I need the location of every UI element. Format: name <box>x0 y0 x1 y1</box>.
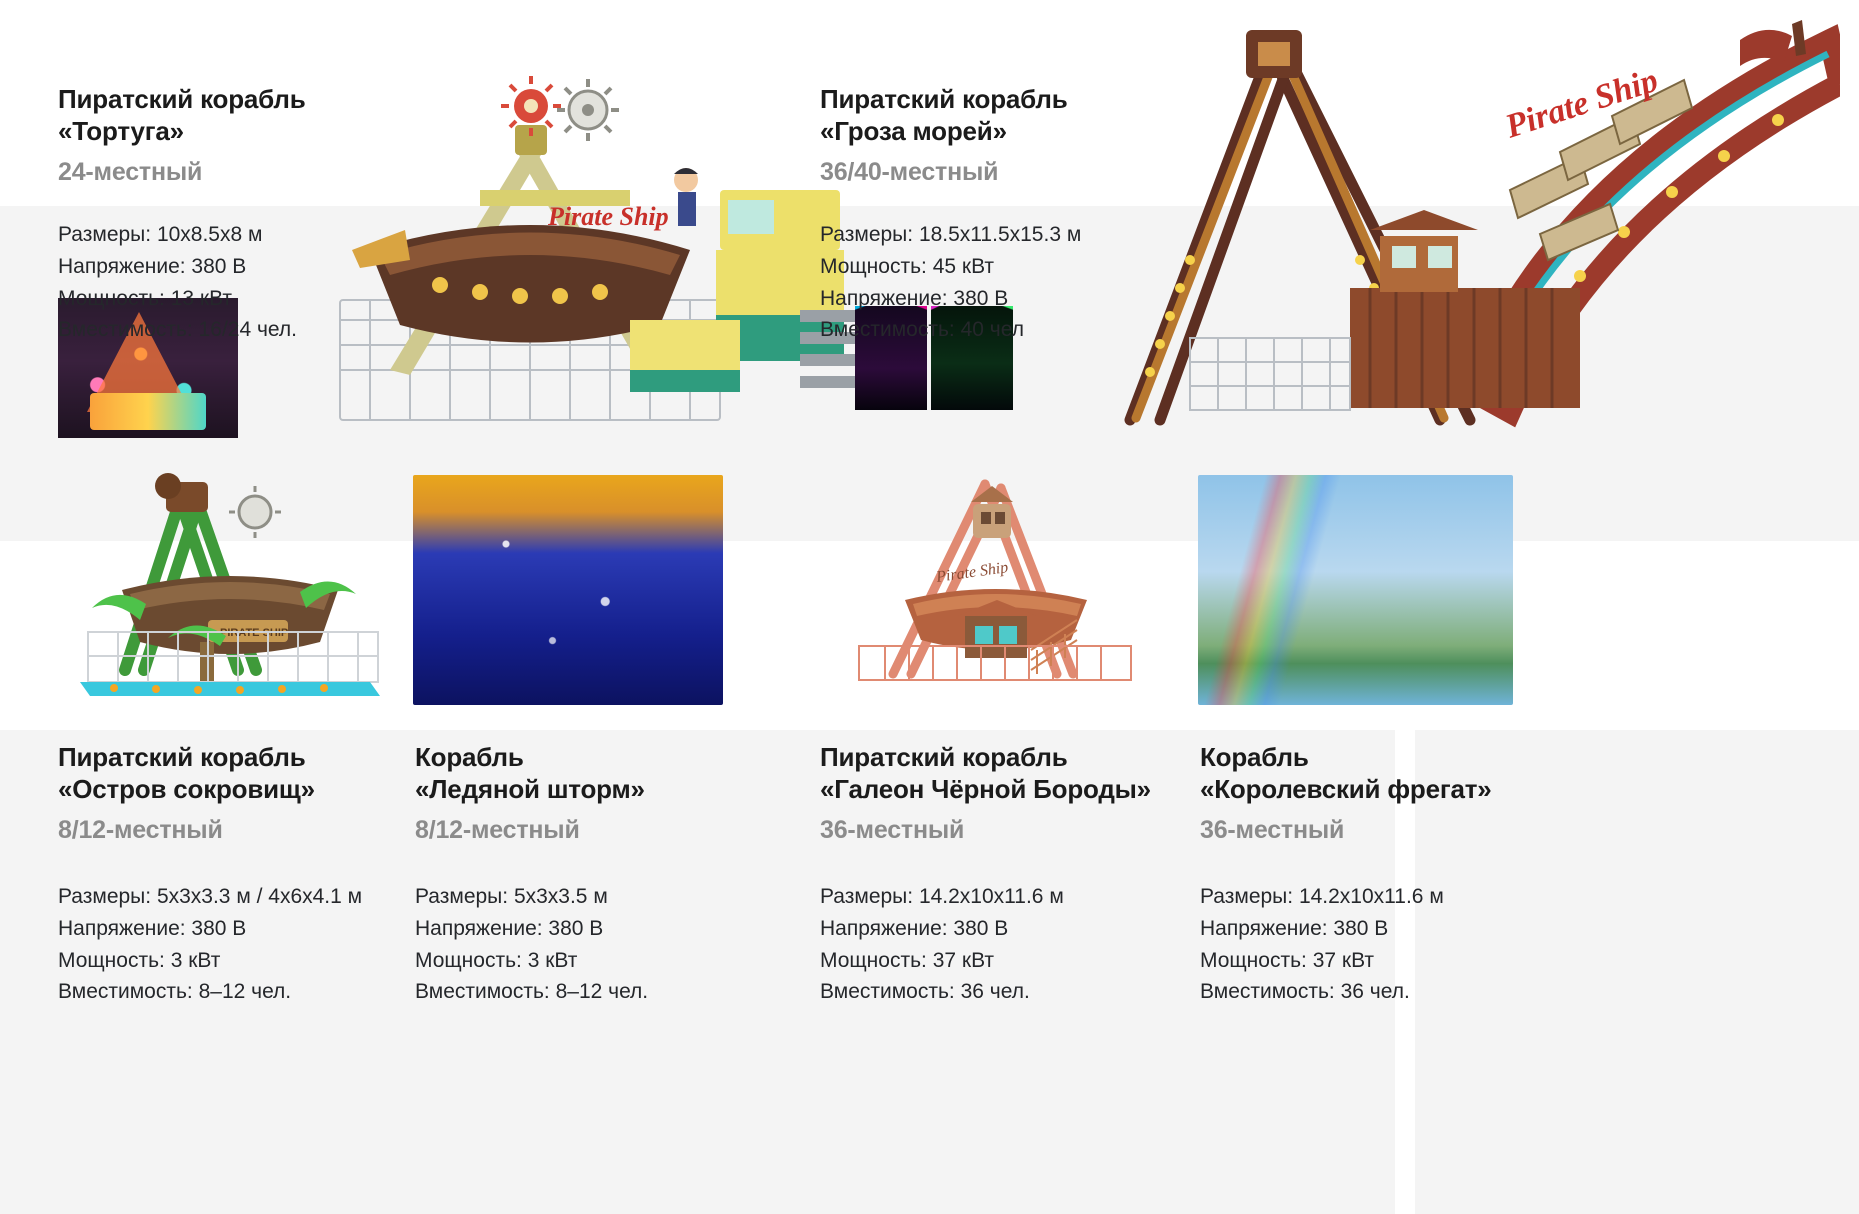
card-title: Корабль «Королевский фрегат» <box>1200 742 1580 805</box>
spec-voltage: Напряжение: 380 В <box>58 913 438 945</box>
spec-power: Мощность: 3 кВт <box>58 945 438 977</box>
card-title-line2: «Гроза морей» <box>820 116 1007 146</box>
card-title-line1: Пиратский корабль <box>58 742 305 772</box>
card-title: Корабль «Ледяной шторм» <box>415 742 795 805</box>
card-title-line2: «Королевский фрегат» <box>1200 774 1492 804</box>
pirate-ship-galeon-chernoy-borody-render: Pirate Ship <box>845 470 1145 705</box>
card-specs: Размеры: 5x3x3.5 м Напряжение: 380 В Мощ… <box>415 881 795 1009</box>
spec-capacity: Вместимость: 36 чел. <box>1200 976 1580 1008</box>
catalog-page: Pirate Ship <box>0 0 1859 1214</box>
spec-power: Мощность: 3 кВт <box>415 945 795 977</box>
spec-voltage: Напряжение: 380 В <box>1200 913 1580 945</box>
spec-power: Мощность: 13 кВт <box>58 283 458 315</box>
spec-dimensions: Размеры: 14.2x10x11.6 м <box>820 881 1200 913</box>
card-title-line1: Пиратский корабль <box>820 84 1067 114</box>
card-subtitle: 36/40-местный <box>820 157 1240 188</box>
card-subtitle: 8/12-местный <box>58 815 438 846</box>
card-subtitle: 36-местный <box>1200 815 1580 846</box>
ship-ledyanoy-shtorm-photo <box>413 475 723 705</box>
spec-capacity: Вместимость: 8–12 чел. <box>415 976 795 1008</box>
card-specs: Размеры: 10x8.5x8 м Напряжение: 380 В Мо… <box>58 219 458 347</box>
spec-voltage: Напряжение: 380 В <box>58 251 458 283</box>
spec-dimensions: Размеры: 18.5x11.5x15.3 м <box>820 219 1240 251</box>
spec-capacity: Вместимость: 8–12 чел. <box>58 976 438 1008</box>
spec-power: Мощность: 37 кВт <box>820 945 1200 977</box>
card-title: Пиратский корабль «Тортуга» <box>58 84 458 147</box>
svg-text:Pirate Ship: Pirate Ship <box>547 202 669 231</box>
spec-voltage: Напряжение: 380 В <box>820 913 1200 945</box>
card-title: Пиратский корабль «Остров сокровищ» <box>58 742 438 805</box>
card-subtitle: 36-местный <box>820 815 1200 846</box>
ship-korolevskiy-fregat-photo <box>1198 475 1513 705</box>
card-korolevskiy-fregat: Корабль «Королевский фрегат» 36-местный … <box>1200 742 1580 1008</box>
card-title-line2: «Остров сокровищ» <box>58 774 315 804</box>
spec-power: Мощность: 45 кВт <box>820 251 1240 283</box>
spec-voltage: Напряжение: 380 В <box>820 283 1240 315</box>
spec-dimensions: Размеры: 5x3x3.3 м / 4x6x4.1 м <box>58 881 438 913</box>
spec-power: Мощность: 37 кВт <box>1200 945 1580 977</box>
spec-capacity: Вместимость: 40 чел <box>820 314 1240 346</box>
spec-dimensions: Размеры: 14.2x10x11.6 м <box>1200 881 1580 913</box>
spec-capacity: Вместимость: 36 чел. <box>820 976 1200 1008</box>
card-title: Пиратский корабль «Гроза морей» <box>820 84 1240 147</box>
card-title-line1: Пиратский корабль <box>58 84 305 114</box>
card-title: Пиратский корабль «Галеон Чёрной Бороды» <box>820 742 1200 805</box>
card-specs: Размеры: 14.2x10x11.6 м Напряжение: 380 … <box>1200 881 1580 1009</box>
spec-dimensions: Размеры: 5x3x3.5 м <box>415 881 795 913</box>
card-ostrov-sokrovisch: Пиратский корабль «Остров сокровищ» 8/12… <box>58 742 438 1008</box>
card-title-line1: Корабль <box>1200 742 1309 772</box>
card-title-line2: «Тортуга» <box>58 116 184 146</box>
card-specs: Размеры: 18.5x11.5x15.3 м Мощность: 45 к… <box>820 219 1240 347</box>
card-groza-morey: Пиратский корабль «Гроза морей» 36/40-ме… <box>820 84 1240 346</box>
card-subtitle: 8/12-местный <box>415 815 795 846</box>
card-title-line1: Пиратский корабль <box>820 742 1067 772</box>
card-title-line2: «Галеон Чёрной Бороды» <box>820 774 1151 804</box>
card-title-line1: Корабль <box>415 742 524 772</box>
card-specs: Размеры: 5x3x3.3 м / 4x6x4.1 м Напряжени… <box>58 881 438 1009</box>
spec-capacity: Вместимость: 16/24 чел. <box>58 314 458 346</box>
pirate-ship-ostrov-sokrovisch-render: PIRATE SHIP <box>70 470 400 710</box>
card-ledyanoy-shtorm: Корабль «Ледяной шторм» 8/12-местный Раз… <box>415 742 795 1008</box>
card-title-line2: «Ледяной шторм» <box>415 774 645 804</box>
card-galeon-chernoy-borody: Пиратский корабль «Галеон Чёрной Бороды»… <box>820 742 1200 1008</box>
card-subtitle: 24-местный <box>58 157 458 188</box>
spec-voltage: Напряжение: 380 В <box>415 913 795 945</box>
spec-dimensions: Размеры: 10x8.5x8 м <box>58 219 458 251</box>
card-specs: Размеры: 14.2x10x11.6 м Напряжение: 380 … <box>820 881 1200 1009</box>
card-tortuga: Пиратский корабль «Тортуга» 24-местный Р… <box>58 84 458 346</box>
